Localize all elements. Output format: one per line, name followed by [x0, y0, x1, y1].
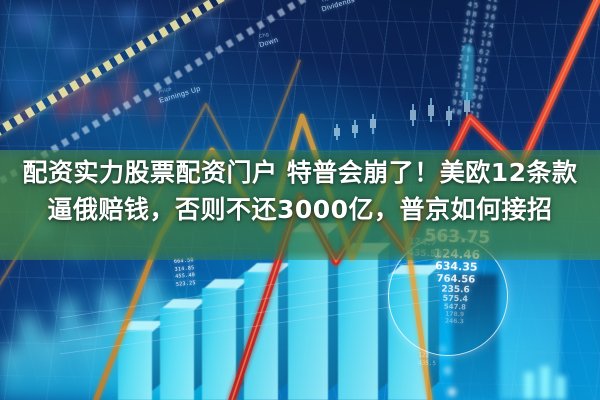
price-value: 246.3 — [445, 318, 464, 325]
micro-number: 435.5 — [418, 360, 436, 369]
headline-line-2: 逼俄赔钱，否则不还3000亿，普京如何接招 — [8, 192, 592, 228]
news-thumbnail-image: Earnings Up Price Down Chg Dividends Yie… — [0, 0, 600, 400]
quote-block: 664.50 314.85 455.40 523.25 — [174, 257, 196, 289]
headline-text: 配资实力股票配资门户 特普会崩了！美欧12条款 逼俄赔钱，否则不还3000亿，普… — [0, 155, 600, 227]
headline-line-1: 配资实力股票配资门户 特普会崩了！美欧12条款 — [8, 155, 592, 191]
micro-number-labels: 122 435.5 — [418, 352, 437, 369]
